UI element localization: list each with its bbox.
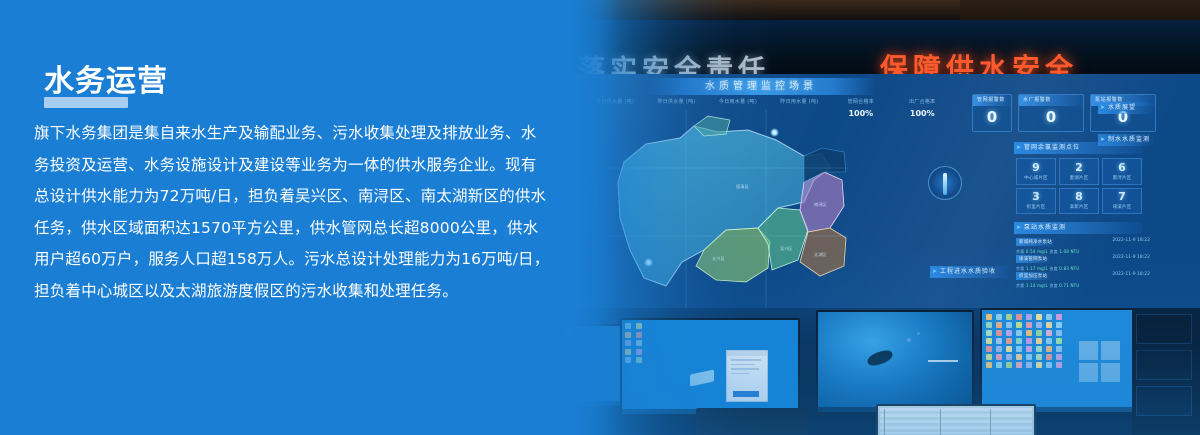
dashboard-right-column: 管网报警数 0 水厂报警数 0 泵站报警数 0 管网余氯监测点位 9 中心城片区 bbox=[972, 94, 1196, 314]
map-glow-dot bbox=[644, 258, 653, 267]
panel-gradient-fade bbox=[540, 0, 620, 435]
dashboard-title: 水质管理监控场景 bbox=[646, 78, 876, 95]
document-window-button[interactable] bbox=[733, 391, 759, 397]
svg-text:德清县: 德清县 bbox=[736, 183, 749, 190]
pipe-cell-value: 7 bbox=[1118, 191, 1126, 203]
banner-stage: 落实安全责任 保障供水安全 水质管理监控场景 年用水总量 (万吨) 今日供水量 … bbox=[0, 0, 1200, 435]
pipe-cell-label: 南浔片区 bbox=[1113, 175, 1132, 181]
paragraph-line: 务投资及运营、水务设施设计及建设等业务为一体的供水服务企业。现有 bbox=[34, 150, 544, 182]
description-paragraph: 旗下水务集团是集自来水生产及输配业务、污水收集处理及排放业务、水 务投资及运营、… bbox=[34, 118, 544, 307]
site-row[interactable]: 埭溪管网泵站 2022-11-9 18:22 余氯 1.17 mg/L 浊度 0… bbox=[1016, 255, 1150, 272]
metric2-value: 1.08 NTU bbox=[1059, 249, 1079, 254]
pipe-cell[interactable]: 2 菱湖片区 bbox=[1059, 158, 1099, 185]
pipe-cell-label: 中心城片区 bbox=[1024, 175, 1048, 181]
pipe-cell[interactable]: 7 埭溪片区 bbox=[1102, 188, 1142, 215]
stat-label: 今日用水量 (吨) bbox=[712, 98, 763, 105]
pipe-cell[interactable]: 3 织里片区 bbox=[1016, 188, 1056, 215]
alarm-card[interactable]: 管网报警数 0 bbox=[972, 94, 1012, 132]
alarm-card[interactable]: 水厂报警数 0 bbox=[1018, 94, 1084, 132]
svg-text:南浔区: 南浔区 bbox=[814, 201, 827, 208]
paragraph-line: 旗下水务集团是集自来水生产及输配业务、污水收集处理及排放业务、水 bbox=[34, 118, 544, 150]
svg-text:太湖区: 太湖区 bbox=[814, 251, 827, 258]
stat-label: 出厂合格率 bbox=[897, 98, 948, 105]
metric1-label: 余氯 bbox=[1016, 249, 1024, 254]
spreadsheet-rows bbox=[880, 408, 1032, 434]
region-map-svg: 德清县 长兴县 吴兴区 南浔区 太湖区 bbox=[608, 110, 848, 310]
metric2-value: 0.83 NTU bbox=[1059, 266, 1079, 271]
pipe-cell[interactable]: 8 高新片区 bbox=[1059, 188, 1099, 215]
site-quality-list: 新城纯净水泵站 2022-11-9 18:22 余氯 0.54 mg/L 浊度 … bbox=[1016, 238, 1150, 289]
caption-line bbox=[928, 360, 958, 362]
region-map: 德清县 长兴县 吴兴区 南浔区 太湖区 bbox=[608, 110, 848, 310]
text-panel: 水务运营 旗下水务集团是集自来水生产及输配业务、污水收集处理及排放业务、水 务投… bbox=[0, 0, 560, 435]
site-row-name: 埭溪管网泵站 bbox=[1016, 255, 1050, 263]
document-window[interactable] bbox=[726, 350, 768, 402]
metric2-label: 浊度 bbox=[1049, 266, 1057, 271]
quality-section-header: 工程进水水质验收 bbox=[930, 266, 1008, 278]
pipe-cell-value: 6 bbox=[1118, 162, 1126, 174]
stat-item: 出厂合格率 100% bbox=[897, 98, 948, 122]
pipe-cell-label: 菱湖片区 bbox=[1070, 175, 1089, 181]
site-row-metrics: 余氯 1.14 mg/L 浊度 0.71 NTU bbox=[1016, 283, 1150, 289]
map-glow-dot bbox=[770, 128, 779, 137]
stat-value: 100% bbox=[897, 109, 948, 118]
pipe-cell[interactable]: 6 南浔片区 bbox=[1102, 158, 1142, 185]
site-row-time: 2022-11-9 18:22 bbox=[1112, 272, 1150, 277]
title-accent-bar bbox=[44, 97, 128, 108]
desk-monitor-document[interactable] bbox=[620, 318, 800, 416]
stat-label: 昨日用水量 (吨) bbox=[774, 98, 825, 105]
site-row-time: 2022-11-9 18:22 bbox=[1112, 238, 1150, 243]
desktop-icon-grid bbox=[625, 323, 645, 363]
rack-monitor[interactable] bbox=[1136, 350, 1192, 380]
pipe-cell-value: 2 bbox=[1075, 162, 1083, 174]
paragraph-line: 总设计供水能力为72万吨/日，担负着吴兴区、南浔区、南太湖新区的供水 bbox=[34, 181, 544, 213]
document-window-titlebar[interactable] bbox=[727, 351, 767, 356]
page-title: 水务运营 bbox=[44, 56, 168, 100]
pipe-cell-value: 8 bbox=[1075, 191, 1083, 203]
pipe-cell-value: 3 bbox=[1032, 191, 1040, 203]
alarm-card-value: 0 bbox=[973, 106, 1011, 128]
site-row[interactable]: 新城纯净水泵站 2022-11-9 18:22 余氯 0.54 mg/L 浊度 … bbox=[1016, 238, 1150, 255]
metric1-value: 1.17 mg/L bbox=[1026, 266, 1048, 271]
right-rail-label: 水质展望 bbox=[1098, 102, 1154, 114]
metric2-value: 0.71 NTU bbox=[1059, 283, 1079, 288]
compass-icon bbox=[928, 166, 962, 200]
paragraph-line: 用户超60万户，服务人口超158万人。污水总设计处理能力为16万吨/日， bbox=[34, 244, 544, 276]
svg-text:长兴县: 长兴县 bbox=[712, 255, 725, 262]
pipe-cell-label: 高新片区 bbox=[1070, 204, 1089, 210]
site-row-name: 织里加压泵站 bbox=[1016, 272, 1050, 280]
desktop-icon-grid bbox=[986, 314, 1064, 368]
site-row[interactable]: 织里加压泵站 2022-11-9 18:22 余氯 1.14 mg/L 浊度 0… bbox=[1016, 272, 1150, 289]
windows-logo-icon bbox=[1079, 341, 1121, 383]
diver-wallpaper bbox=[818, 312, 972, 412]
metric1-value: 1.14 mg/L bbox=[1026, 283, 1048, 288]
pipe-cell-value: 9 bbox=[1032, 162, 1040, 174]
stat-label: 昨日供水量 (吨) bbox=[651, 98, 702, 105]
spreadsheet-laptop[interactable] bbox=[876, 404, 1036, 435]
control-room-photo: 落实安全责任 保障供水安全 水质管理监控场景 年用水总量 (万吨) 今日供水量 … bbox=[520, 0, 1200, 435]
metric1-label: 余氯 bbox=[1016, 283, 1024, 288]
pipe-cell-label: 织里片区 bbox=[1027, 204, 1046, 210]
alarm-card-value: 0 bbox=[1019, 106, 1083, 128]
alarm-card-title: 水厂报警数 bbox=[1019, 95, 1083, 106]
site-row-time: 2022-11-9 18:22 bbox=[1112, 255, 1150, 260]
metric1-value: 0.54 mg/L bbox=[1026, 249, 1048, 254]
metric2-label: 浊度 bbox=[1049, 249, 1057, 254]
folder-icon bbox=[690, 369, 714, 386]
led-banner: 落实安全责任 保障供水安全 bbox=[520, 20, 1200, 78]
paragraph-line: 担负着中心城区以及太湖旅游度假区的污水收集和处理任务。 bbox=[34, 276, 544, 308]
supply-section-header: 制水水质监测 bbox=[1098, 134, 1154, 146]
rack-monitor[interactable] bbox=[1136, 386, 1192, 416]
pipe-cell[interactable]: 9 中心城片区 bbox=[1016, 158, 1056, 185]
operator-desk bbox=[520, 308, 1200, 435]
monitor-stand bbox=[696, 408, 808, 435]
desk-monitor-icon-grid[interactable] bbox=[980, 308, 1146, 414]
desk-monitor-diver[interactable] bbox=[816, 310, 974, 414]
site-row-name: 新城纯净水泵站 bbox=[1016, 238, 1055, 246]
server-rack bbox=[1132, 308, 1200, 435]
stat-label: 管网合格率 bbox=[835, 98, 886, 105]
alarm-card-title: 管网报警数 bbox=[973, 95, 1011, 106]
video-wall: 水质管理监控场景 年用水总量 (万吨) 今日供水量 (吨) 昨日供水量 (吨) … bbox=[520, 74, 1200, 314]
site-section-header: 泵站水质监测 bbox=[1014, 222, 1142, 234]
rack-monitor[interactable] bbox=[1136, 314, 1192, 344]
svg-text:吴兴区: 吴兴区 bbox=[780, 245, 793, 252]
pipe-cell-label: 埭溪片区 bbox=[1113, 204, 1132, 210]
metric2-label: 浊度 bbox=[1049, 283, 1057, 288]
pipe-monitor-grid: 9 中心城片区 2 菱湖片区 6 南浔片区 3 织里片区 8 高新片区 bbox=[1016, 158, 1142, 214]
paragraph-line: 任务，供水区域面积达1570平方公里，供水管网总长超8000公里，供水 bbox=[34, 213, 544, 245]
metric1-label: 余氯 bbox=[1016, 266, 1024, 271]
